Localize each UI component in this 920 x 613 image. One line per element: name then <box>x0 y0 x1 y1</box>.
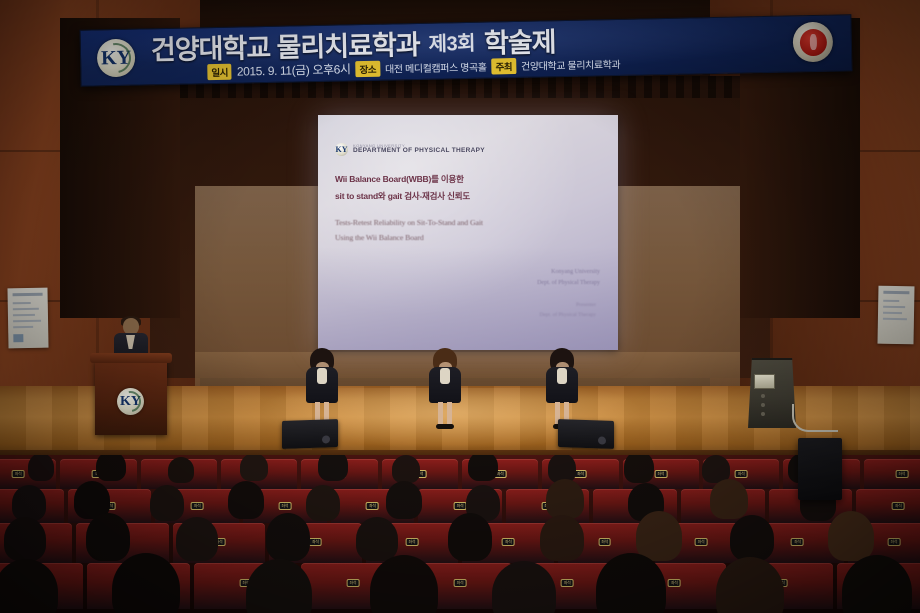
audience-member <box>546 479 584 519</box>
audience-member <box>540 515 584 561</box>
audience-member <box>730 515 774 561</box>
audience-member <box>448 513 492 561</box>
audience-member <box>240 455 268 481</box>
slide-affiliation-line2: Dept. of Physical Therapy <box>537 278 600 289</box>
audience-member <box>386 481 422 519</box>
stage-wainscot <box>195 352 740 386</box>
banner-event-number: 제3회 <box>428 26 475 56</box>
notice-poster-right <box>877 286 914 345</box>
banner-place-value: 대전 메디컬캠퍼스 명곡홀 <box>385 59 487 76</box>
stage-monitor-speaker-right <box>558 419 614 449</box>
slide-presenter-line2: Dept. of Physical Therapy <box>540 311 597 321</box>
audience-member <box>266 513 310 561</box>
slide-header: KY KONYANG UNIVERSITY DEPARTMENT OF PHYS… <box>335 143 485 156</box>
presenter-left <box>305 348 339 426</box>
slide-department-name: DEPARTMENT OF PHYSICAL THERAPY <box>353 148 485 155</box>
auditorium-photo: KY 건양대학교 물리치료학과 제3회 학술제 일시 2015. 9. 11(금… <box>0 0 920 613</box>
audience-seating: 좌석 좌석 좌석 좌석 좌석 좌석 좌석 좌석 좌석 좌석 좌석 좌석 좌석 좌… <box>0 455 920 613</box>
banner-host-value: 건양대학교 물리치료학과 <box>521 56 620 73</box>
slide-title-en-line1: Tests-Retest Reliability on Sit-To-Stand… <box>335 215 597 230</box>
audience-member <box>636 511 682 561</box>
presenter-center <box>428 348 462 426</box>
audience-member <box>12 485 46 521</box>
audience-member <box>28 455 54 481</box>
slide-title-english: Tests-Retest Reliability on Sit-To-Stand… <box>335 215 597 245</box>
seat-row-1: 좌석 좌석 좌석 좌석 좌석 좌석 좌석 좌석 좌석 좌석 좌석 좌석 <box>0 459 920 489</box>
podium-ky-logo-icon: KY <box>117 388 144 415</box>
audience-member <box>828 511 874 561</box>
audience-member <box>176 517 218 561</box>
university-seal-icon <box>793 22 834 63</box>
notice-poster-left <box>7 288 48 349</box>
audience-member <box>4 517 46 561</box>
slide-ky-logo-icon: KY <box>335 143 348 156</box>
audience-member <box>168 457 194 483</box>
banner-host-tag: 주최 <box>491 57 516 73</box>
lectern-cable <box>792 404 838 432</box>
slide-title-korean: Wii Balance Board(WBB)를 이용한 sit to stand… <box>335 171 595 206</box>
audience-member <box>150 485 184 521</box>
audience-member <box>318 455 348 481</box>
projection-screen: KY KONYANG UNIVERSITY DEPARTMENT OF PHYS… <box>318 115 618 350</box>
audience-member <box>96 455 126 481</box>
stage-monitor-speaker-left <box>282 419 338 449</box>
wall-loudspeaker <box>798 438 842 500</box>
banner-date-tag: 일시 <box>207 63 232 79</box>
slide-affiliation: Konyang University Dept. of Physical The… <box>537 267 600 289</box>
banner-date-value: 2015. 9. 11(금) 오후6시 <box>237 60 351 79</box>
slide-title-en-line2: Using the Wii Balance Board <box>335 230 597 245</box>
audience-member <box>392 455 420 483</box>
audience-member <box>356 517 398 561</box>
slide-title-kr-line2: sit to stand와 gait 검사-재검사 신뢰도 <box>335 188 595 205</box>
presenter-right <box>545 348 579 426</box>
control-lectern-right <box>748 358 796 428</box>
audience-member <box>228 481 264 519</box>
konyang-ky-logo-icon: KY <box>97 39 136 78</box>
banner-event-name: 학술제 <box>484 20 556 60</box>
audience-member <box>624 455 654 483</box>
audience-member <box>468 455 498 481</box>
slide-affiliation-line1: Konyang University <box>537 267 600 278</box>
audience-member <box>86 513 130 561</box>
slide-presenter-line1: Presenter <box>540 301 597 311</box>
banner-place-tag: 장소 <box>355 60 380 76</box>
seat: 좌석 <box>864 459 920 489</box>
podium-left: KY <box>95 360 167 435</box>
slide-presenter-credit: Presenter Dept. of Physical Therapy <box>540 301 597 320</box>
audience-member <box>306 485 340 521</box>
slide-title-kr-line1: Wii Balance Board(WBB)를 이용한 <box>335 171 595 188</box>
audience-member <box>710 479 748 519</box>
